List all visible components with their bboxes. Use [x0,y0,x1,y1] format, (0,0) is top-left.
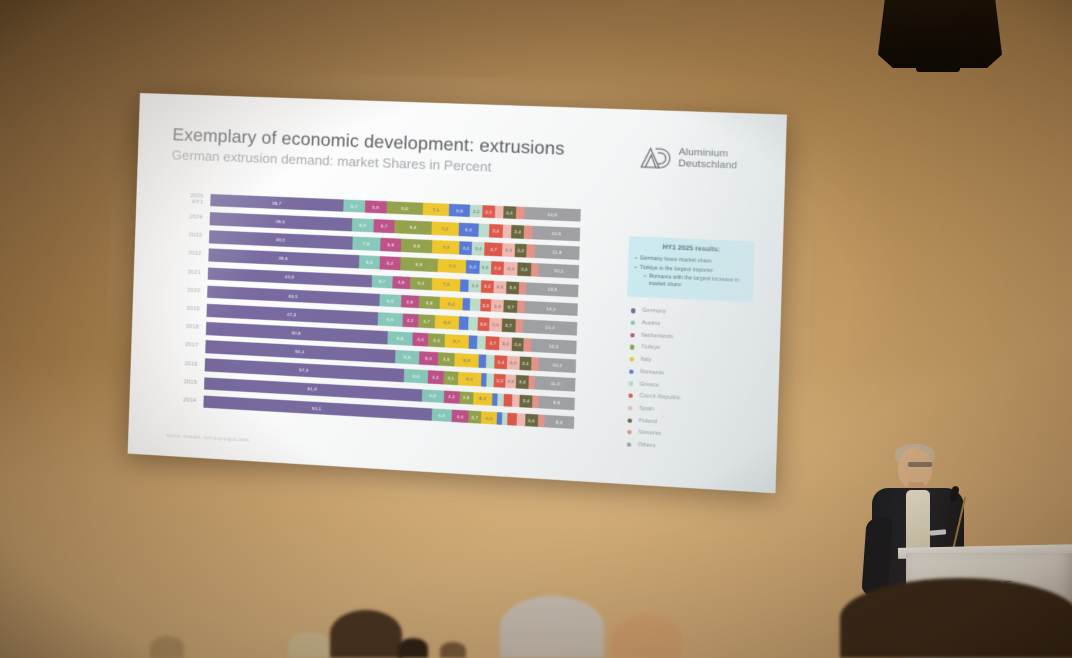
chart-segment-poland: 3,4 [519,357,532,371]
chart-segment-spain: 3,4 [491,299,504,313]
chart-segment-italy: 7,3 [431,222,459,236]
chart-segment-poland: 3,2 [515,244,527,258]
callout-bullets: ▪Germany loses market share▪Türkiye is t… [634,255,748,293]
chart-segment-t-rkiye: 6,1 [410,276,433,290]
chart-segment-t-rkiye: 3,7 [468,410,482,424]
chart-segment-romania-red: 3,4 [491,262,505,276]
chart-segment-others: 10,1 [539,264,579,279]
chart-y-label: 2024 [174,214,210,222]
podium-lectern: EUROFORGE IFC [906,553,1072,658]
legend-label: Romania [640,369,664,377]
chart-segment-germany: 36,7 [210,194,344,212]
legend-label: Netherlands [641,332,673,340]
chart-segment-greece: 3,4 [472,242,485,256]
chart-segment-spain: 3,4 [489,318,502,332]
chart-segment-poland: 3,4 [517,263,531,277]
chart-segment-romania: 5,4 [458,223,479,237]
chart-segment-spain: 3,4 [493,280,506,294]
chart-segment-t-rkiye: 8,6 [401,239,433,253]
chart-segment-t-rkiye: 9,8 [400,257,438,272]
chart-segment-austria: 6,6 [404,369,428,383]
chart-segment-italy: 7,1 [423,203,450,217]
chart-segment-netherlands: 4,4 [428,371,444,385]
presenter-glasses-icon [908,462,932,467]
side-panel: HY1 2025 results: ▪Germany loses market … [622,236,754,458]
chart-segment-italy: 6,4 [435,315,459,329]
chart-y-label: 2017 [169,342,205,350]
source-note: Source: Destatis, Germany August 2025 [166,433,249,443]
chart-segment-romania-red: 4,7 [485,243,503,257]
chart-y-label: 2014 [167,396,203,405]
chart-segment-netherlands: 4,4 [412,333,428,347]
chart-segment-italy: 7,3 [438,259,467,273]
chart-legend: GermanyAustriaNetherlandsTürkiyeItalyRom… [622,304,752,457]
chart-segment-italy: 4,2 [481,411,497,425]
chart-segment-italy: 6,7 [444,334,469,348]
podium-brand-euroforge: EUROFORGE [922,579,1013,593]
chart-segment-germany: 39,0 [210,212,352,231]
chart-segment-austria: 5,6 [431,408,452,422]
chart-segment-greece [470,298,480,311]
chart-segment-romania: 3,3 [466,260,479,274]
aluminium-deutschland-logo: Aluminium Deutschland [638,145,738,174]
legend-swatch-icon [630,333,635,338]
podium-brand-ifc: IFC [922,595,973,629]
chart-segment-poland: 3,4 [525,414,538,428]
chart-segment-romania-red: 3,7 [486,336,500,350]
chart-segment-romania-red: 3,4 [489,224,502,238]
chart-segment-spain: 3,4 [504,262,518,276]
chart-segment-others: 8,0 [544,415,574,430]
chart-segment-others: 14,9 [524,207,581,222]
legend-swatch-icon [627,430,632,435]
chart-segment-others: 10,2 [538,358,576,373]
chart-segment-austria: 6,8 [388,331,413,345]
legend-swatch-icon [631,308,636,313]
chart-segment-t-rkiye: 4,4 [428,333,444,347]
legend-label: Spain [639,405,654,412]
chart-segment-austria: 5,7 [344,199,365,213]
chart-segment-others: 12,2 [531,339,577,354]
chart-segment-netherlands: 4,4 [452,409,468,423]
chart-segment-others: 12,5 [532,226,580,241]
bullet-dot-icon: ▪ [634,264,636,271]
legend-label: Austria [642,320,661,327]
chart-y-label: 2020 [171,287,207,295]
speaker-mount [916,62,960,72]
chart-segment-italy: 5,4 [473,392,493,406]
chart-segment-romania-red: 3,4 [494,356,507,370]
chart-segment-austria: 5,5 [359,256,381,270]
chart-segment-others: 11,0 [535,376,575,391]
legend-swatch-icon [631,321,636,326]
chart-segment-greece [468,317,478,330]
chart-segment-greece [478,224,489,237]
legend-label: Italy [640,357,651,364]
chart-segment-poland: 3,4 [511,338,524,352]
chart-y-label: 2016 [169,360,205,368]
legend-swatch-icon [629,381,634,386]
chart-segment-netherlands: 5,8 [380,238,402,252]
legend-swatch-icon [628,406,633,411]
chart-segment-italy: 6,2 [440,297,463,311]
chart-segment-romania: 3,4 [460,241,473,254]
chart-segment-t-rkiye: 9,8 [395,220,432,234]
chart-segment-romania-red: 3,0 [480,298,491,311]
chart-y-label: 2015 [168,378,204,386]
chart-segment-netherlands: 5,2 [380,256,400,270]
chart-segment-spain: 3,4 [502,243,515,257]
chart-segment-others: 9,8 [539,396,575,411]
chart-segment-poland: 3,7 [501,318,515,332]
chart-segment-others: 11,9 [535,245,580,260]
chart-segment-romania-red: 3,2 [481,280,493,294]
chart-segment-poland: 3,7 [504,300,518,314]
chart-segment-italy: 7,4 [432,240,460,254]
logo-text: Aluminium Deutschland [678,148,738,173]
chart-segment-italy: 6,8 [454,353,479,367]
legend-label: Greece [640,381,660,388]
chart-segment-netherlands: 5,4 [419,352,439,366]
chart-segment-austria: 5,7 [371,275,392,289]
chart-y-label: 2025HY1 [174,192,211,206]
chart-segment-romania: 5,6 [449,204,470,218]
hy1-results-callout: HY1 2025 results: ▪Germany loses market … [627,236,754,302]
chart-segment-spain [502,225,511,238]
legend-label: Germany [642,308,666,315]
chart-segment-spain: 3,2 [499,337,511,351]
chart-segment-t-rkiye: 3,8 [459,391,473,405]
chart-segment-austria: 6,5 [395,350,419,364]
projection-screen: Exemplary of economic development: extru… [128,93,787,493]
chart-segment-netherlands: 4,8 [401,295,419,309]
chart-segment-t-rkiye: 4,6 [438,353,455,367]
chart-segment-romania [459,316,469,329]
chart-segment-spain: 3,0 [505,375,516,389]
chart-segment-netherlands: 5,7 [374,219,395,233]
chart-segment-poland: 3,4 [511,225,524,239]
chart-segment-poland: 3,4 [520,394,533,408]
chart-segment-netherlands: 4,6 [392,276,409,290]
legend-label: Others [638,442,656,449]
chart-segment-poland: 3,4 [503,206,516,219]
chart-y-label: 2023 [173,232,209,240]
ad-monogram-icon [638,145,671,171]
chart-segment-poland: 3,4 [516,375,529,389]
chart-y-label: 2022 [172,250,208,258]
chart-segment-greece: 3,0 [479,261,491,274]
chart-segment-romania-red: 3,0 [478,317,490,331]
chart-segment-romania-red: 3,3 [494,374,506,388]
callout-bullet-text: Romania with the largest increase in mar… [649,274,747,293]
chart-segment-others: 13,6 [526,282,578,297]
legend-label: Poland [639,418,658,425]
legend-swatch-icon [630,345,635,350]
chart-segment-romania-red: 3,3 [482,205,495,218]
chart-segment-germany: 40,0 [209,230,353,249]
chart-segment-austria: 5,9 [379,294,401,308]
callout-title: HY1 2025 results: [635,243,748,255]
chart-segment-austria: 6,0 [351,218,374,232]
chart-segment-others: 14,4 [523,319,577,335]
legend-swatch-icon [630,357,635,362]
chart-segment-netherlands: 4,2 [402,313,418,327]
chart-segment-netherlands: 4,2 [444,390,460,404]
bullet-dot-icon: ▪ [635,255,637,262]
legend-label: Türkiye [641,345,661,352]
presenter-arm [861,517,892,597]
conference-room-background: Exemplary of economic development: extru… [0,0,1072,658]
chart-segment-t-rkiye: 4,7 [418,314,436,328]
chart-segment-poland: 3,4 [506,281,519,295]
chart-segment-austria: 6,8 [377,312,402,326]
legend-swatch-icon [628,394,633,399]
chart-y-label: 2021 [172,268,208,276]
chart-segment-netherlands: 5,9 [365,200,387,214]
chart-y-label: 2018 [170,323,206,331]
legend-swatch-icon [629,369,634,374]
ceiling-speaker-icon [878,0,1002,68]
chart-segment-others: 14,1 [525,301,578,317]
chart-segment-romania [459,279,468,292]
bullet-dot-icon: ▪ [644,273,646,288]
logo-line2: Deutschland [678,159,737,172]
legend-label: Slovenia [638,430,661,438]
chart-segment-t-rkiye: 4,1 [443,372,458,386]
chart-segment-italy: 7,3 [432,278,460,292]
chart-segment-austria: 6,2 [422,389,445,403]
chart-segment-greece: 3,2 [470,204,482,217]
chart-segment-austria: 7,6 [352,237,380,251]
callout-bullet: ▪Romania with the largest increase in ma… [634,273,747,293]
chart-segment-spain: 3,4 [507,356,520,370]
chart-segment-greece: 3,4 [468,279,481,293]
legend-swatch-icon [628,418,633,423]
chart-segment-t-rkiye: 5,9 [418,296,440,310]
chart-segment-t-rkiye: 9,8 [386,201,423,215]
chart-segment-italy: 6,4 [458,372,481,386]
legend-swatch-icon [627,442,632,447]
presentation-slide: Exemplary of economic development: extru… [128,93,787,493]
chart-y-label: 2019 [170,305,206,313]
chart-segment-romania-red [507,413,517,427]
legend-label: Czech Republic [639,393,681,402]
